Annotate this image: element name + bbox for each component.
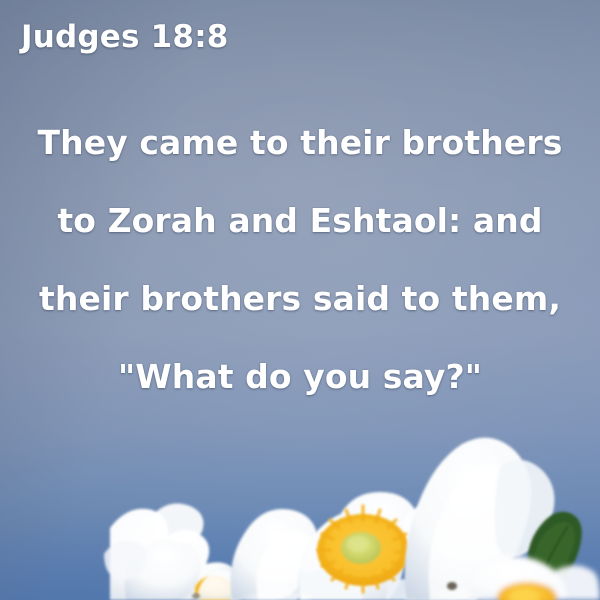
verse-text-block: They came to their brothers to Zorah and… (0, 104, 600, 416)
verse-line: They came to their brothers (0, 104, 600, 182)
dark-speck-left (192, 593, 200, 599)
verse-reference-title: Judges 18:8 (21, 19, 229, 55)
verse-line: "What do you say?" (0, 338, 600, 416)
flower-right-lower (469, 556, 600, 600)
dark-speck (447, 582, 457, 590)
verse-line: their brothers said to them, (0, 260, 600, 338)
flower-photo-band (0, 400, 600, 600)
verse-image: Judges 18:8 They came to their brothers … (0, 0, 600, 600)
verse-line: to Zorah and Eshtaol: and (0, 182, 600, 260)
